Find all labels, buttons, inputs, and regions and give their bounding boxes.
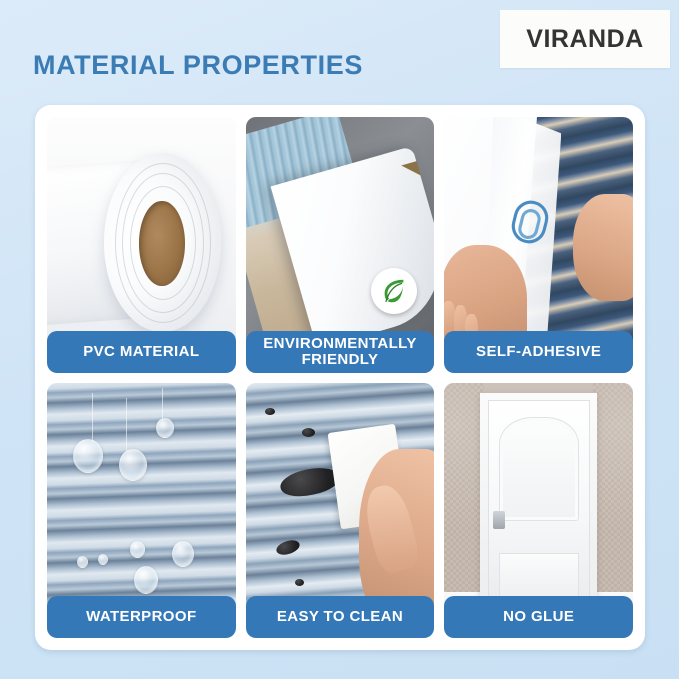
stain-mark — [265, 408, 275, 415]
leaf-badge — [371, 268, 417, 314]
card-label-pvc-material: PVC MATERIAL — [47, 331, 236, 373]
feature-panel: PVC MATERIAL — [35, 105, 645, 650]
door-panel-bottom — [499, 553, 579, 597]
drop-trail-1 — [92, 393, 93, 444]
leaf-icon — [379, 276, 409, 306]
card-label-text: ENVIRONMENTALLY FRIENDLY — [263, 336, 417, 368]
drop-trail-3 — [162, 388, 163, 421]
door-panel-top — [499, 417, 579, 521]
stain-mark — [274, 538, 301, 558]
right-hand — [573, 194, 633, 301]
feature-grid: PVC MATERIAL — [47, 117, 633, 638]
card-label-environmentally-friendly: ENVIRONMENTALLY FRIENDLY — [246, 331, 435, 373]
card-label-easy-to-clean: EASY TO CLEAN — [246, 596, 435, 638]
water-droplet — [73, 439, 103, 473]
wall-right — [593, 383, 633, 598]
water-droplet — [119, 449, 147, 481]
water-droplet — [134, 566, 158, 594]
card-label-waterproof: WATERPROOF — [47, 596, 236, 638]
card-label-no-glue: NO GLUE — [444, 596, 633, 638]
door-leaf — [488, 400, 590, 602]
card-label-line-1: ENVIRONMENTALLY — [263, 335, 417, 352]
stain-mark — [295, 579, 304, 586]
feature-card-pvc-material[interactable]: PVC MATERIAL — [47, 117, 236, 373]
card-label-text: SELF-ADHESIVE — [476, 344, 601, 360]
wall-left — [444, 383, 484, 598]
brand-logo-box: VIRANDA — [500, 10, 670, 68]
card-label-line-2: FRIENDLY — [302, 351, 379, 368]
feature-card-easy-to-clean[interactable]: EASY TO CLEAN — [246, 383, 435, 639]
drop-trail-2 — [126, 398, 127, 452]
page-title: MATERIAL PROPERTIES — [33, 50, 363, 81]
water-droplet — [77, 556, 88, 568]
brand-name: VIRANDA — [526, 25, 643, 54]
stain-mark — [302, 428, 315, 437]
pvc-cardboard-core — [139, 201, 184, 285]
door-handle — [493, 511, 505, 529]
feature-card-no-glue[interactable]: NO GLUE — [444, 383, 633, 639]
card-label-text: NO GLUE — [503, 609, 574, 625]
water-droplet — [156, 418, 174, 438]
water-droplet — [172, 541, 194, 567]
water-droplet — [130, 541, 145, 558]
feature-card-waterproof[interactable]: WATERPROOF — [47, 383, 236, 639]
feature-card-self-adhesive[interactable]: SELF-ADHESIVE — [444, 117, 633, 373]
card-label-text: PVC MATERIAL — [83, 344, 199, 360]
card-label-text: EASY TO CLEAN — [277, 609, 403, 625]
feature-card-environmentally-friendly[interactable]: ENVIRONMENTALLY FRIENDLY — [246, 117, 435, 373]
card-label-self-adhesive: SELF-ADHESIVE — [444, 331, 633, 373]
card-label-text: WATERPROOF — [86, 609, 196, 625]
water-droplet — [98, 554, 108, 565]
